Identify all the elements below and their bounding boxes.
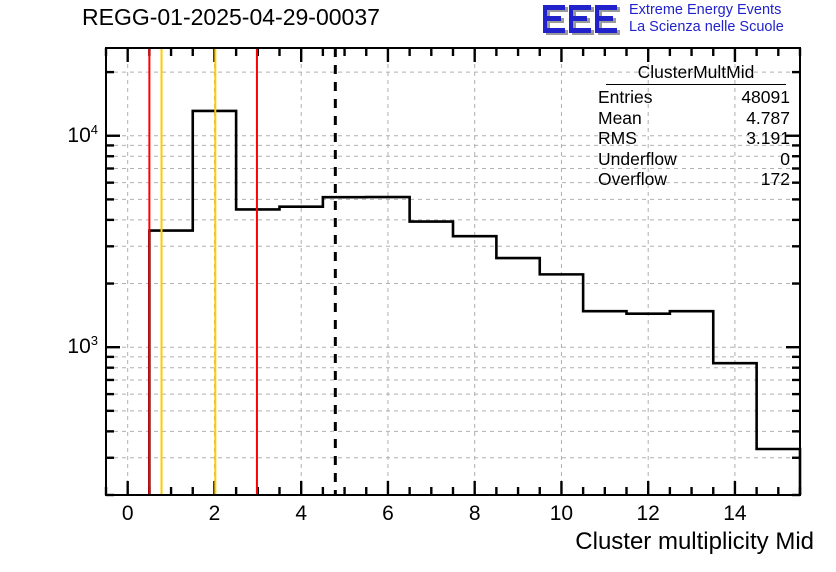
y-tick-exponent: 3 (91, 333, 98, 348)
y-tick-label: 103 (20, 333, 98, 359)
stats-row-value: 172 (761, 169, 790, 190)
stats-row-value: 3.191 (746, 128, 790, 149)
stats-row-key: Overflow (598, 169, 667, 190)
root-canvas: REGG-01-2025-04-29-00037 Extreme Energy … (0, 0, 836, 572)
stats-row: Underflow0 (588, 149, 794, 170)
y-tick-mantissa: 10 (67, 124, 90, 147)
y-tick-exponent: 4 (91, 122, 98, 137)
stats-row: Overflow172 (588, 169, 794, 190)
stats-row-key: Mean (598, 108, 642, 129)
x-tick-label: 14 (695, 502, 775, 526)
x-axis-title: Cluster multiplicity Mid (575, 528, 814, 556)
stats-box: ClusterMultMid Entries48091Mean4.787RMS3… (588, 62, 794, 190)
stats-row-key: RMS (598, 128, 637, 149)
stats-row: RMS3.191 (588, 128, 794, 149)
stats-row-key: Entries (598, 87, 652, 108)
stats-rows: Entries48091Mean4.787RMS3.191Underflow0O… (588, 87, 794, 190)
stats-box-title: ClusterMultMid (606, 62, 786, 85)
x-tick-label: 10 (521, 502, 601, 526)
stats-row: Entries48091 (588, 87, 794, 108)
x-tick-label: 12 (608, 502, 688, 526)
stats-row-value: 0 (780, 149, 790, 170)
stats-row-key: Underflow (598, 149, 677, 170)
y-tick-label: 104 (20, 122, 98, 148)
stats-row-value: 48091 (741, 87, 790, 108)
x-tick-label: 0 (88, 502, 168, 526)
x-tick-label: 4 (261, 502, 341, 526)
y-tick-mantissa: 10 (67, 335, 90, 358)
stats-row-value: 4.787 (746, 108, 790, 129)
stats-row: Mean4.787 (588, 108, 794, 129)
x-tick-label: 8 (435, 502, 515, 526)
x-tick-label: 2 (174, 502, 254, 526)
x-tick-label: 6 (348, 502, 428, 526)
